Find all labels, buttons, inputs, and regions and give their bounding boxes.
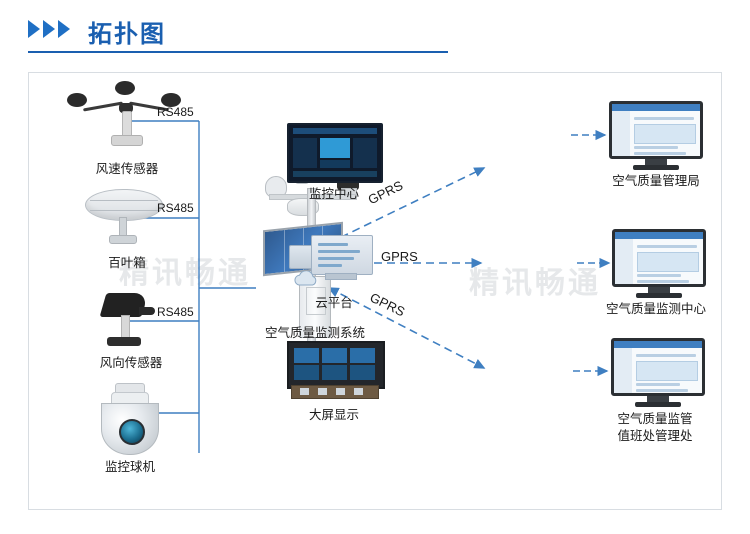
air-quality-management-bureau-label: 空气质量管理局: [594, 173, 718, 190]
ptz-camera-label: 监控球机: [73, 459, 187, 476]
monitoring-center: [287, 123, 379, 183]
protocol-label-rs485-1: RS485: [157, 105, 194, 119]
wind-speed-sensor-label: 风速传感器: [67, 161, 187, 178]
cloud-platform-label: 云平台: [281, 295, 387, 312]
cloud-platform: [285, 231, 383, 293]
wind-direction-sensor: [81, 291, 181, 361]
louver-box: [77, 185, 177, 249]
air-quality-management-bureau-monitor: [609, 101, 703, 173]
topology-diagram: 精讯畅通 精讯畅通: [28, 72, 722, 510]
air-quality-duty-office-label: 空气质量监管 值班处管理处: [587, 411, 723, 445]
header-divider: [28, 51, 448, 53]
wind-direction-sensor-label: 风向传感器: [69, 355, 193, 372]
wind-speed-sensor: [67, 85, 187, 155]
ptz-camera: [85, 383, 175, 463]
air-quality-duty-office-monitor: [611, 338, 705, 410]
page-header: 拓扑图: [28, 14, 448, 54]
air-quality-monitoring-station-label: 空气质量监测系统: [225, 325, 405, 342]
cloud-icon: [291, 271, 325, 287]
air-quality-monitoring-center-label: 空气质量监测中心: [592, 301, 720, 318]
protocol-label-rs485-3: RS485: [157, 305, 194, 319]
page-title: 拓扑图: [88, 14, 166, 49]
big-screen-display-label: 大屏显示: [279, 407, 389, 424]
air-quality-monitoring-center-monitor: [612, 229, 706, 301]
link-label-gprs-2: GPRS: [381, 249, 418, 264]
big-screen-display: [287, 341, 381, 403]
header-arrows-icon: [28, 20, 70, 38]
monitoring-center-label: 监控中心: [279, 186, 389, 203]
louver-box-label: 百叶箱: [77, 255, 177, 272]
protocol-label-rs485-2: RS485: [157, 201, 194, 215]
